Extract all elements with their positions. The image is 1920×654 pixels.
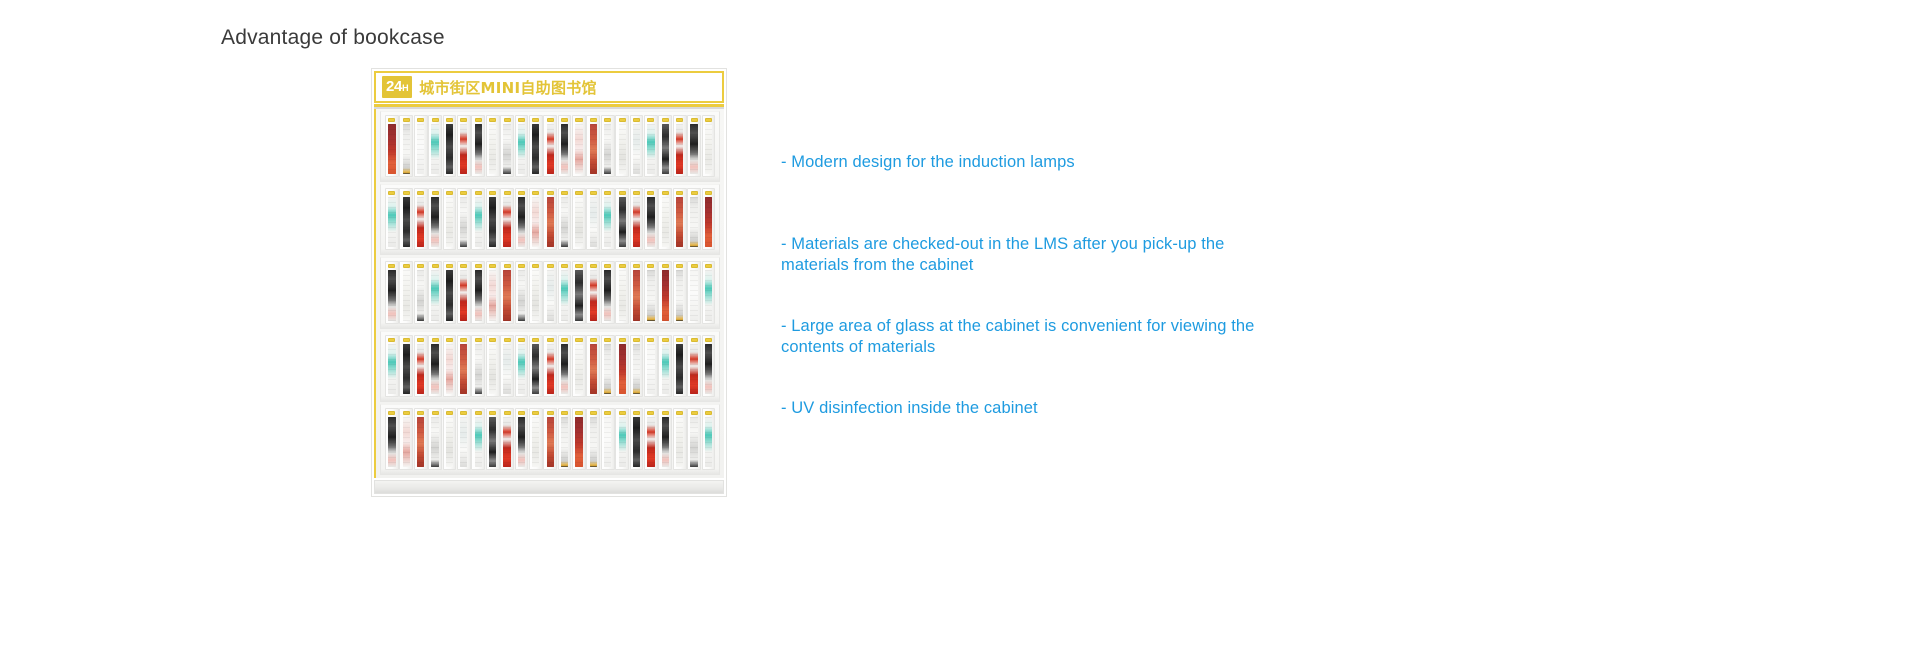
book-spine: [547, 124, 554, 174]
slot-label-tab: [417, 191, 424, 195]
book-slot[interactable]: [428, 188, 442, 250]
slot-label-tab: [633, 118, 640, 122]
book-spine: [489, 197, 496, 247]
book-spine: [460, 344, 467, 394]
book-slot[interactable]: [644, 408, 658, 470]
book-slot[interactable]: [428, 261, 442, 323]
slot-label-tab: [590, 118, 597, 122]
badge-24h-number: 24: [386, 79, 402, 94]
book-slot[interactable]: [471, 261, 485, 323]
book-slot[interactable]: [673, 335, 687, 397]
book-slot[interactable]: [515, 335, 529, 397]
book-spine: [561, 124, 568, 174]
book-slot[interactable]: [572, 261, 586, 323]
book-slot[interactable]: [586, 115, 600, 177]
slot-label-tab: [705, 118, 712, 122]
slot-label-tab: [532, 411, 539, 415]
slot-label-tab: [676, 264, 683, 268]
book-slot[interactable]: [702, 115, 716, 177]
book-spine: [705, 197, 712, 247]
book-spine: [619, 417, 626, 467]
book-spine: [619, 124, 626, 174]
slot-label-tab: [403, 411, 410, 415]
book-slot[interactable]: [486, 188, 500, 250]
slot-label-tab: [460, 191, 467, 195]
slot-label-tab: [518, 118, 525, 122]
book-slot[interactable]: [702, 188, 716, 250]
slot-label-tab: [633, 411, 640, 415]
slot-label-tab: [691, 264, 698, 268]
book-slot[interactable]: [630, 335, 644, 397]
book-slot[interactable]: [558, 335, 572, 397]
slot-label-tab: [676, 118, 683, 122]
book-slot[interactable]: [515, 188, 529, 250]
book-slot[interactable]: [543, 408, 557, 470]
book-slot[interactable]: [572, 335, 586, 397]
book-slot[interactable]: [644, 335, 658, 397]
book-slot[interactable]: [558, 115, 572, 177]
book-spine: [575, 270, 582, 320]
slot-label-tab: [475, 264, 482, 268]
book-slot[interactable]: [572, 408, 586, 470]
book-slot[interactable]: [457, 408, 471, 470]
book-spine: [431, 344, 438, 394]
book-slot[interactable]: [399, 335, 413, 397]
slot-label-tab: [403, 338, 410, 342]
book-slot[interactable]: [543, 115, 557, 177]
slot-label-tab: [676, 338, 683, 342]
slot-label-tab: [604, 338, 611, 342]
book-spine: [604, 417, 611, 467]
book-slot[interactable]: [428, 115, 442, 177]
book-slot[interactable]: [500, 115, 514, 177]
book-slot[interactable]: [500, 408, 514, 470]
slot-label-tab: [604, 411, 611, 415]
book-slot[interactable]: [601, 408, 615, 470]
book-spine: [590, 197, 597, 247]
book-slot[interactable]: [615, 115, 629, 177]
book-spine: [417, 417, 424, 467]
book-spine: [460, 270, 467, 320]
cabinet-title-chinese: 城市街区MINI自助图书馆: [419, 77, 597, 98]
book-slot[interactable]: [399, 115, 413, 177]
slot-label-tab: [388, 264, 395, 268]
book-slot[interactable]: [515, 115, 529, 177]
book-spine: [460, 124, 467, 174]
book-slot[interactable]: [385, 408, 399, 470]
book-slot[interactable]: [644, 261, 658, 323]
book-spine: [388, 344, 395, 394]
book-spine: [403, 124, 410, 174]
book-slot[interactable]: [486, 115, 500, 177]
book-spine: [676, 417, 683, 467]
cabinet-base-plinth: [374, 480, 724, 494]
book-spine: [518, 270, 525, 320]
book-slot[interactable]: [586, 335, 600, 397]
book-spine: [676, 344, 683, 394]
slot-label-tab: [432, 338, 439, 342]
book-slot[interactable]: [529, 188, 543, 250]
book-spine: [518, 124, 525, 174]
book-slot[interactable]: [414, 335, 428, 397]
book-spine: [431, 270, 438, 320]
slot-label-tab: [417, 411, 424, 415]
book-slot[interactable]: [673, 188, 687, 250]
slot-label-tab: [561, 411, 568, 415]
slot-label-tab: [489, 338, 496, 342]
slot-label-tab: [460, 118, 467, 122]
slot-label-tab: [691, 338, 698, 342]
book-slot[interactable]: [615, 261, 629, 323]
book-slot[interactable]: [500, 261, 514, 323]
slot-label-tab: [590, 264, 597, 268]
book-slot[interactable]: [558, 188, 572, 250]
book-slot[interactable]: [615, 335, 629, 397]
book-spine: [690, 270, 697, 320]
slot-label-tab: [547, 118, 554, 122]
book-slot[interactable]: [586, 261, 600, 323]
book-slot[interactable]: [601, 261, 615, 323]
slot-label-tab: [633, 191, 640, 195]
slot-label-tab: [633, 264, 640, 268]
book-spine: [475, 344, 482, 394]
slot-label-tab: [518, 191, 525, 195]
book-slot[interactable]: [385, 335, 399, 397]
slot-label-tab: [518, 411, 525, 415]
book-spine: [489, 417, 496, 467]
book-spine: [633, 417, 640, 467]
book-spine: [388, 417, 395, 467]
book-slot[interactable]: [399, 261, 413, 323]
book-slot[interactable]: [515, 261, 529, 323]
slot-label-tab: [575, 118, 582, 122]
book-slot[interactable]: [572, 188, 586, 250]
slide-canvas: Advantage of bookcase 24H 城市街区MINI自助图书馆 …: [0, 0, 1920, 654]
slot-label-tab: [705, 264, 712, 268]
book-spine: [518, 344, 525, 394]
book-slot[interactable]: [543, 188, 557, 250]
book-slot[interactable]: [572, 115, 586, 177]
slot-label-tab: [547, 191, 554, 195]
book-slot[interactable]: [644, 115, 658, 177]
slot-label-tab: [575, 264, 582, 268]
book-slot[interactable]: [687, 115, 701, 177]
book-spine: [575, 197, 582, 247]
book-spine: [489, 270, 496, 320]
slot-label-tab: [475, 338, 482, 342]
book-spine: [604, 124, 611, 174]
book-slot[interactable]: [457, 115, 471, 177]
book-slot[interactable]: [443, 188, 457, 250]
book-slot[interactable]: [414, 408, 428, 470]
slot-label-tab: [388, 411, 395, 415]
slot-label-tab: [705, 191, 712, 195]
slot-label-tab: [475, 191, 482, 195]
book-slot[interactable]: [486, 335, 500, 397]
book-spine: [446, 124, 453, 174]
slot-label-tab: [504, 118, 511, 122]
book-slot[interactable]: [673, 261, 687, 323]
slot-label-tab: [547, 411, 554, 415]
book-spine: [460, 197, 467, 247]
slot-label-tab: [619, 411, 626, 415]
book-spine: [619, 344, 626, 394]
book-slot[interactable]: [543, 335, 557, 397]
slot-label-tab: [446, 118, 453, 122]
slot-label-tab: [619, 191, 626, 195]
slot-label-tab: [662, 191, 669, 195]
book-spine: [690, 124, 697, 174]
slot-label-tab: [518, 338, 525, 342]
book-spine: [446, 344, 453, 394]
cabinet-shelf: [380, 331, 720, 402]
book-slot[interactable]: [428, 408, 442, 470]
book-slot[interactable]: [687, 408, 701, 470]
book-slot[interactable]: [558, 261, 572, 323]
book-slot[interactable]: [687, 188, 701, 250]
book-spine: [547, 197, 554, 247]
book-slot[interactable]: [486, 408, 500, 470]
book-slot[interactable]: [529, 115, 543, 177]
book-spine: [532, 270, 539, 320]
book-slot[interactable]: [586, 408, 600, 470]
book-slot[interactable]: [471, 188, 485, 250]
book-slot[interactable]: [601, 335, 615, 397]
book-slot[interactable]: [443, 335, 457, 397]
slot-label-tab: [633, 338, 640, 342]
book-spine: [662, 344, 669, 394]
slot-label-tab: [647, 118, 654, 122]
book-slot[interactable]: [399, 188, 413, 250]
book-spine: [647, 124, 654, 174]
book-slot[interactable]: [471, 408, 485, 470]
slot-label-tab: [590, 191, 597, 195]
slot-label-tab: [446, 338, 453, 342]
book-spine: [647, 270, 654, 320]
book-slot[interactable]: [558, 408, 572, 470]
slot-label-tab: [662, 118, 669, 122]
book-spine: [705, 270, 712, 320]
slot-label-tab: [547, 264, 554, 268]
book-slot[interactable]: [673, 115, 687, 177]
slot-label-tab: [388, 338, 395, 342]
cabinet-shelf: [380, 184, 720, 255]
book-slot[interactable]: [687, 335, 701, 397]
book-slot[interactable]: [414, 261, 428, 323]
list-item: - Modern design for the induction lamps: [781, 152, 1201, 173]
book-spine: [561, 270, 568, 320]
slot-label-tab: [662, 264, 669, 268]
book-slot[interactable]: [658, 335, 672, 397]
book-spine: [619, 197, 626, 247]
book-slot[interactable]: [702, 408, 716, 470]
book-spine: [475, 197, 482, 247]
slot-label-tab: [417, 118, 424, 122]
book-spine: [532, 197, 539, 247]
book-spine: [662, 417, 669, 467]
book-spine: [388, 124, 395, 174]
slot-label-tab: [604, 264, 611, 268]
book-spine: [590, 124, 597, 174]
book-slot[interactable]: [457, 335, 471, 397]
book-slot[interactable]: [443, 115, 457, 177]
slot-label-tab: [532, 118, 539, 122]
cabinet-shelf: [380, 257, 720, 328]
book-slot[interactable]: [529, 335, 543, 397]
book-slot[interactable]: [443, 408, 457, 470]
book-slot[interactable]: [702, 261, 716, 323]
book-spine: [532, 417, 539, 467]
slot-label-tab: [417, 264, 424, 268]
slot-label-tab: [432, 118, 439, 122]
book-slot[interactable]: [658, 408, 672, 470]
book-slot[interactable]: [630, 115, 644, 177]
book-spine: [403, 344, 410, 394]
slot-label-tab: [518, 264, 525, 268]
book-spine: [417, 124, 424, 174]
badge-24h: 24H: [382, 76, 412, 98]
book-slot[interactable]: [630, 261, 644, 323]
book-spine: [647, 417, 654, 467]
slot-label-tab: [561, 191, 568, 195]
book-spine: [388, 270, 395, 320]
book-slot[interactable]: [385, 188, 399, 250]
bookcase-cabinet: 24H 城市街区MINI自助图书馆: [371, 68, 727, 497]
book-slot[interactable]: [385, 115, 399, 177]
slot-label-tab: [547, 338, 554, 342]
book-spine: [532, 124, 539, 174]
book-spine: [662, 124, 669, 174]
book-slot[interactable]: [658, 188, 672, 250]
book-spine: [417, 197, 424, 247]
book-spine: [619, 270, 626, 320]
book-spine: [633, 344, 640, 394]
book-spine: [403, 270, 410, 320]
book-slot[interactable]: [500, 335, 514, 397]
book-slot[interactable]: [543, 261, 557, 323]
book-slot[interactable]: [414, 115, 428, 177]
slot-label-tab: [532, 338, 539, 342]
slot-label-tab: [604, 191, 611, 195]
slot-label-tab: [460, 411, 467, 415]
slot-label-tab: [676, 411, 683, 415]
book-spine: [561, 197, 568, 247]
book-spine: [647, 344, 654, 394]
book-slot[interactable]: [457, 261, 471, 323]
book-slot[interactable]: [615, 188, 629, 250]
book-slot[interactable]: [414, 188, 428, 250]
book-slot[interactable]: [615, 408, 629, 470]
book-spine: [633, 124, 640, 174]
slot-label-tab: [662, 338, 669, 342]
book-slot[interactable]: [658, 115, 672, 177]
book-spine: [633, 270, 640, 320]
book-spine: [705, 344, 712, 394]
book-slot[interactable]: [687, 261, 701, 323]
book-slot[interactable]: [385, 261, 399, 323]
book-slot[interactable]: [644, 188, 658, 250]
book-slot[interactable]: [471, 335, 485, 397]
book-spine: [475, 417, 482, 467]
slot-label-tab: [662, 411, 669, 415]
slot-label-tab: [446, 411, 453, 415]
book-spine: [503, 344, 510, 394]
badge-24h-suffix: H: [402, 84, 408, 93]
book-spine: [604, 344, 611, 394]
book-spine: [446, 270, 453, 320]
book-slot[interactable]: [529, 408, 543, 470]
book-spine: [575, 417, 582, 467]
slot-label-tab: [460, 338, 467, 342]
slot-label-tab: [647, 411, 654, 415]
book-slot[interactable]: [457, 188, 471, 250]
book-slot[interactable]: [500, 188, 514, 250]
book-slot[interactable]: [658, 261, 672, 323]
book-slot[interactable]: [529, 261, 543, 323]
slot-label-tab: [647, 264, 654, 268]
list-item: - Large area of glass at the cabinet is …: [781, 316, 1297, 358]
book-slot[interactable]: [702, 335, 716, 397]
book-spine: [662, 197, 669, 247]
slot-label-tab: [504, 411, 511, 415]
book-spine: [676, 124, 683, 174]
slot-label-tab: [691, 191, 698, 195]
slot-label-tab: [446, 191, 453, 195]
book-spine: [705, 124, 712, 174]
cabinet-shelf: [380, 404, 720, 475]
slot-label-tab: [403, 118, 410, 122]
book-spine: [705, 417, 712, 467]
slot-label-tab: [489, 191, 496, 195]
slot-label-tab: [619, 264, 626, 268]
book-spine: [690, 417, 697, 467]
list-item: - Materials are checked-out in the LMS a…: [781, 234, 1293, 276]
book-slot[interactable]: [443, 261, 457, 323]
book-slot[interactable]: [471, 115, 485, 177]
book-spine: [547, 344, 554, 394]
book-slot[interactable]: [399, 408, 413, 470]
slot-label-tab: [504, 338, 511, 342]
slot-label-tab: [532, 264, 539, 268]
book-spine: [431, 417, 438, 467]
book-slot[interactable]: [486, 261, 500, 323]
slot-label-tab: [561, 118, 568, 122]
slot-label-tab: [705, 411, 712, 415]
book-spine: [518, 197, 525, 247]
book-spine: [575, 124, 582, 174]
book-slot[interactable]: [601, 115, 615, 177]
slot-label-tab: [388, 118, 395, 122]
book-spine: [489, 124, 496, 174]
book-slot[interactable]: [428, 335, 442, 397]
book-slot[interactable]: [586, 188, 600, 250]
book-spine: [518, 417, 525, 467]
book-slot[interactable]: [630, 408, 644, 470]
list-item: - UV disinfection inside the cabinet: [781, 398, 1201, 419]
slot-label-tab: [691, 118, 698, 122]
book-slot[interactable]: [601, 188, 615, 250]
slot-label-tab: [432, 264, 439, 268]
slot-label-tab: [489, 264, 496, 268]
cabinet-header-banner: 24H 城市街区MINI自助图书馆: [374, 71, 724, 103]
book-slot[interactable]: [630, 188, 644, 250]
book-spine: [388, 197, 395, 247]
slot-label-tab: [489, 118, 496, 122]
book-slot[interactable]: [515, 408, 529, 470]
book-spine: [604, 270, 611, 320]
book-slot[interactable]: [673, 408, 687, 470]
slot-label-tab: [590, 338, 597, 342]
